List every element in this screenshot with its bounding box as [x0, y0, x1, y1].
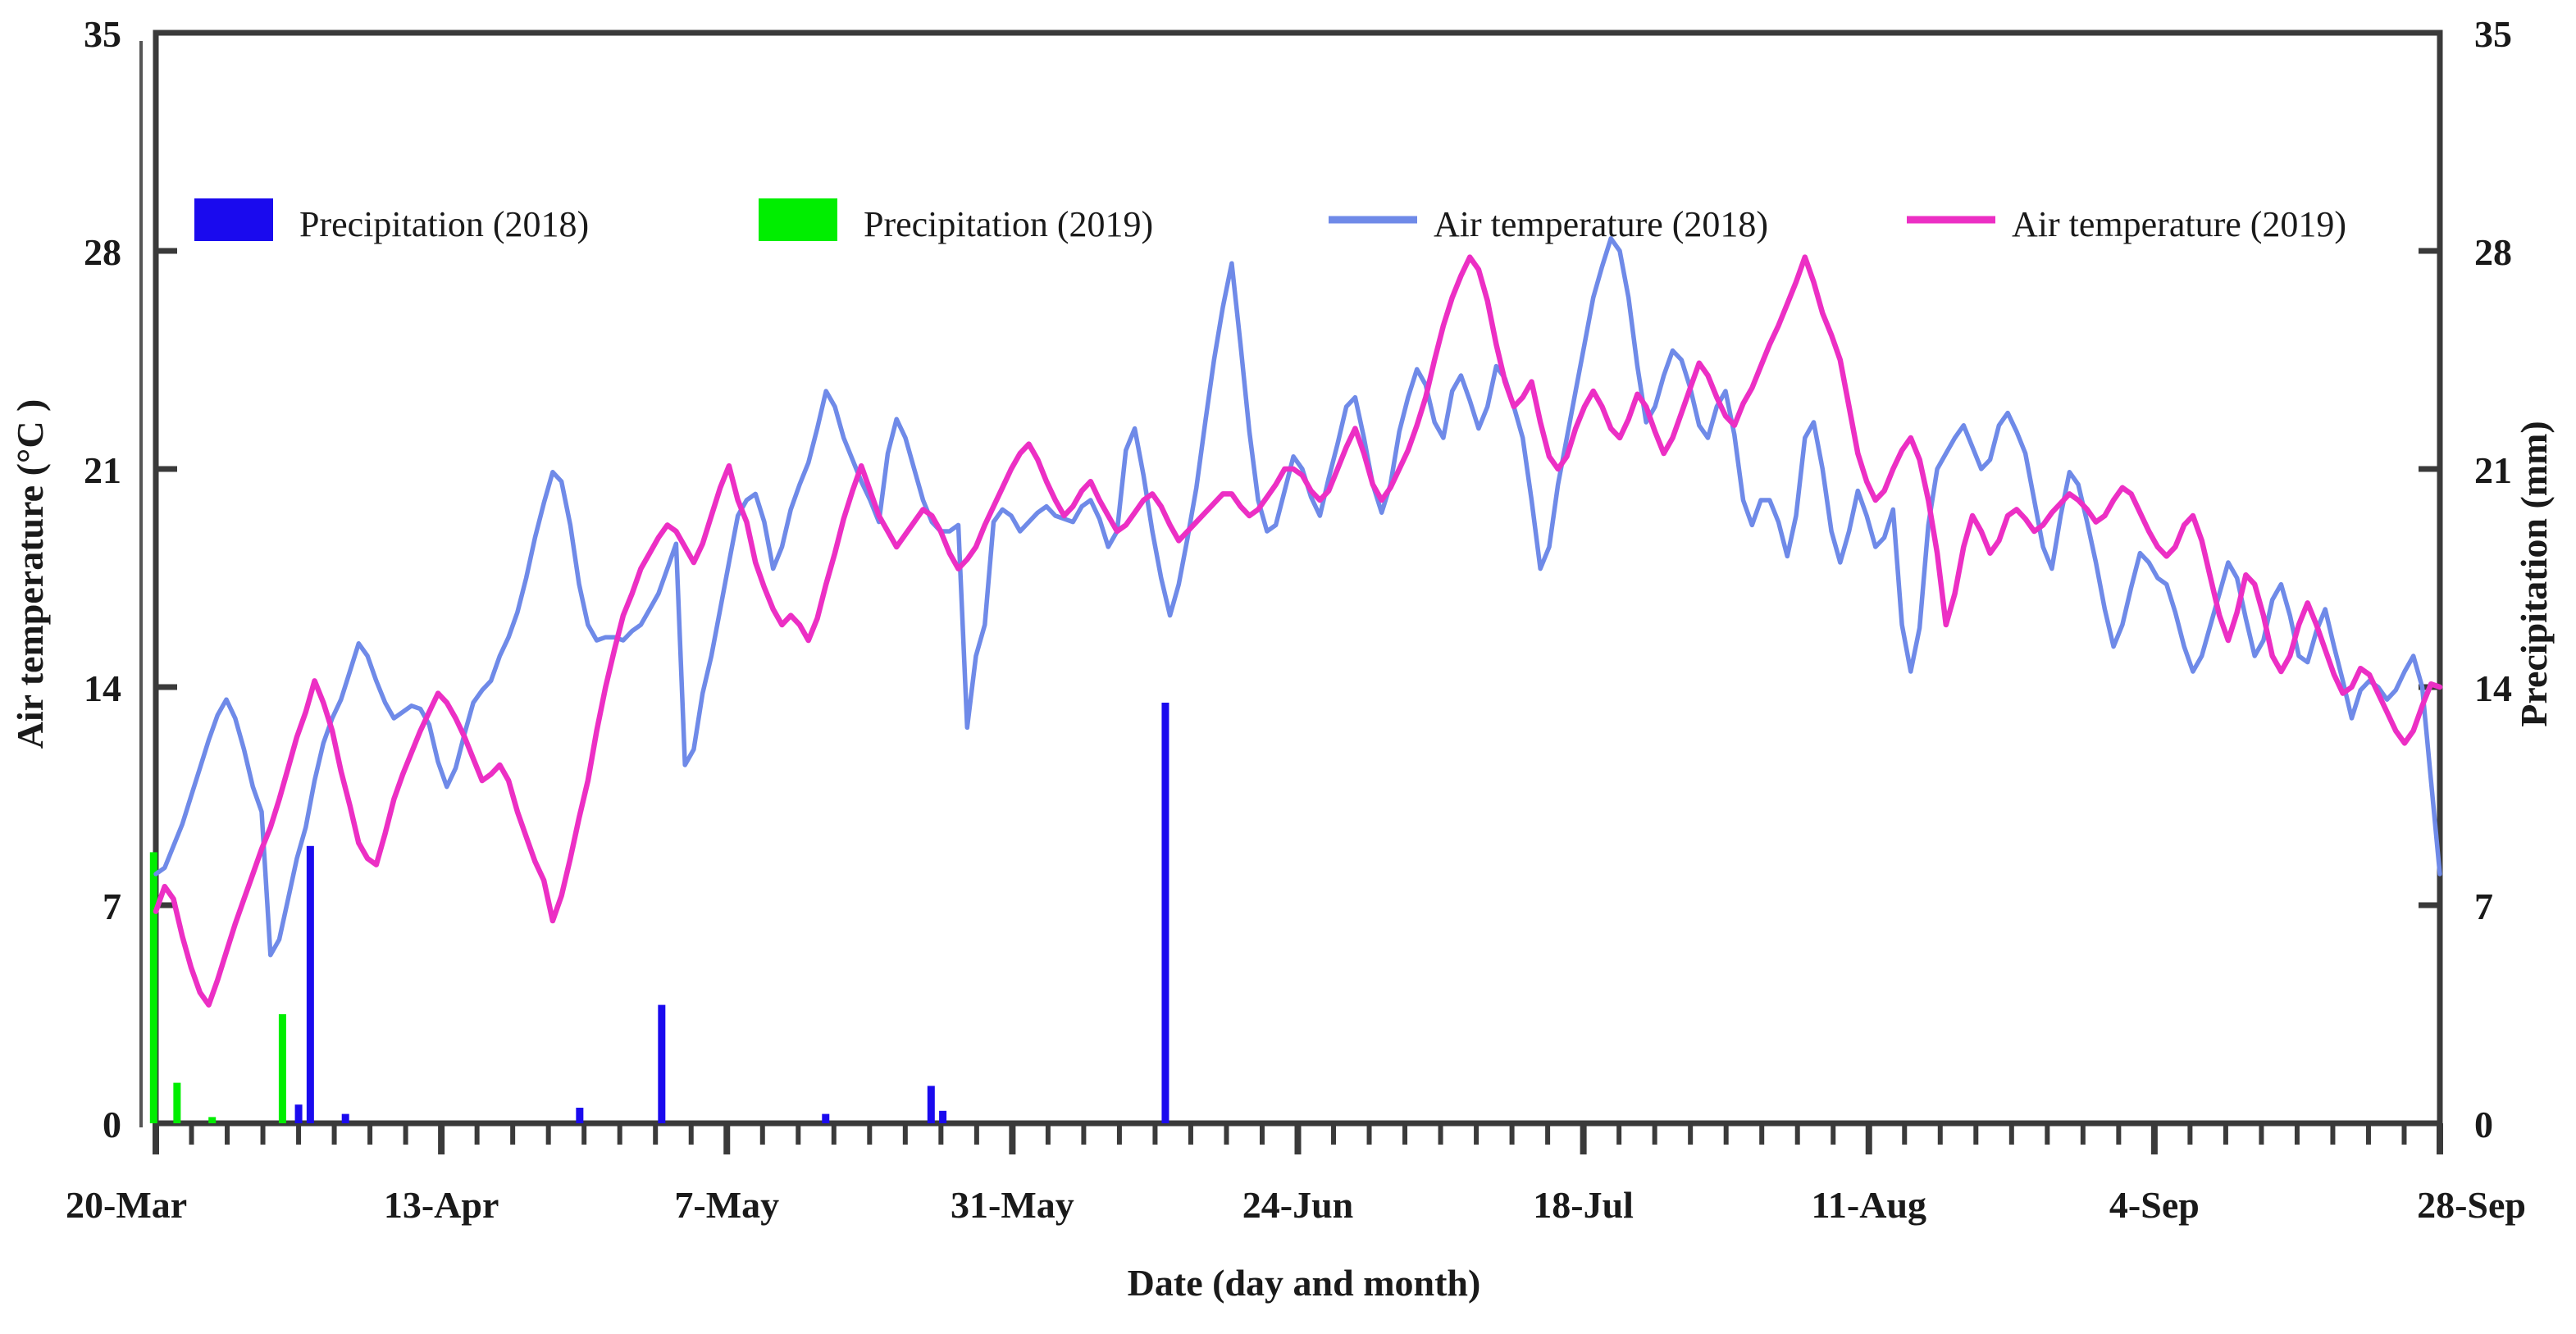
precip-bar — [208, 1117, 216, 1123]
precip-bar — [928, 1086, 935, 1123]
y-axis-right-title: Precipitation (mm) — [2513, 421, 2555, 726]
legend-label: Precipitation (2019) — [864, 204, 1153, 244]
y-left-tick-0: 0 — [103, 1104, 121, 1145]
x-tick-11-aug: 11-Aug — [1811, 1184, 1926, 1226]
y-left-tick-7: 7 — [103, 886, 121, 927]
precip-bar — [658, 1005, 665, 1123]
legend-label: Air temperature (2019) — [2012, 204, 2346, 244]
y-right-tick-7: 7 — [2474, 886, 2493, 927]
y-right-tick-35: 35 — [2474, 13, 2512, 55]
legend-label: Precipitation (2018) — [299, 204, 589, 244]
y-axis-left-title: Air temperature (°C ) — [9, 399, 51, 749]
precip-bar — [295, 1104, 303, 1123]
legend-swatch-bar-icon — [759, 198, 837, 241]
legend-precipitation-2018[interactable]: Precipitation (2018) — [194, 198, 589, 244]
x-tick-4-sep: 4-Sep — [2109, 1184, 2200, 1226]
chart-figure: 0714212835071421283520-Mar13-Apr7-May31-… — [0, 0, 2576, 1334]
precip-bar — [150, 852, 157, 1123]
precip-bar — [279, 1014, 286, 1123]
y-right-tick-0: 0 — [2474, 1104, 2493, 1145]
y-left-tick-21: 21 — [84, 449, 121, 491]
x-axis-title: Date (day and month) — [1128, 1262, 1481, 1304]
precip-bar — [342, 1114, 349, 1123]
x-tick-20-mar: 20-Mar — [66, 1184, 187, 1226]
precip-bar — [939, 1111, 946, 1123]
precip-bar — [1161, 703, 1169, 1123]
y-left-tick-35: 35 — [84, 13, 121, 55]
legend-label: Air temperature (2018) — [1434, 204, 1768, 244]
precip-bar — [822, 1114, 829, 1123]
x-tick-13-apr: 13-Apr — [384, 1184, 499, 1226]
x-tick-24-jun: 24-Jun — [1242, 1184, 1353, 1226]
precip-bar — [576, 1108, 583, 1123]
precip-bar — [173, 1083, 180, 1123]
precip-bar — [307, 846, 314, 1123]
legend-precipitation-2019[interactable]: Precipitation (2019) — [759, 198, 1153, 244]
weather-chart: 0714212835071421283520-Mar13-Apr7-May31-… — [0, 0, 2576, 1334]
x-tick-28-sep: 28-Sep — [2417, 1184, 2526, 1226]
y-right-tick-14: 14 — [2474, 667, 2512, 709]
y-right-tick-28: 28 — [2474, 231, 2512, 273]
x-tick-18-jul: 18-Jul — [1533, 1184, 1634, 1226]
y-left-tick-14: 14 — [84, 667, 121, 709]
legend-swatch-bar-icon — [194, 198, 273, 241]
x-tick-7-may: 7-May — [674, 1184, 779, 1226]
y-right-tick-21: 21 — [2474, 449, 2512, 491]
y-left-tick-28: 28 — [84, 231, 121, 273]
x-tick-31-may: 31-May — [951, 1184, 1074, 1226]
